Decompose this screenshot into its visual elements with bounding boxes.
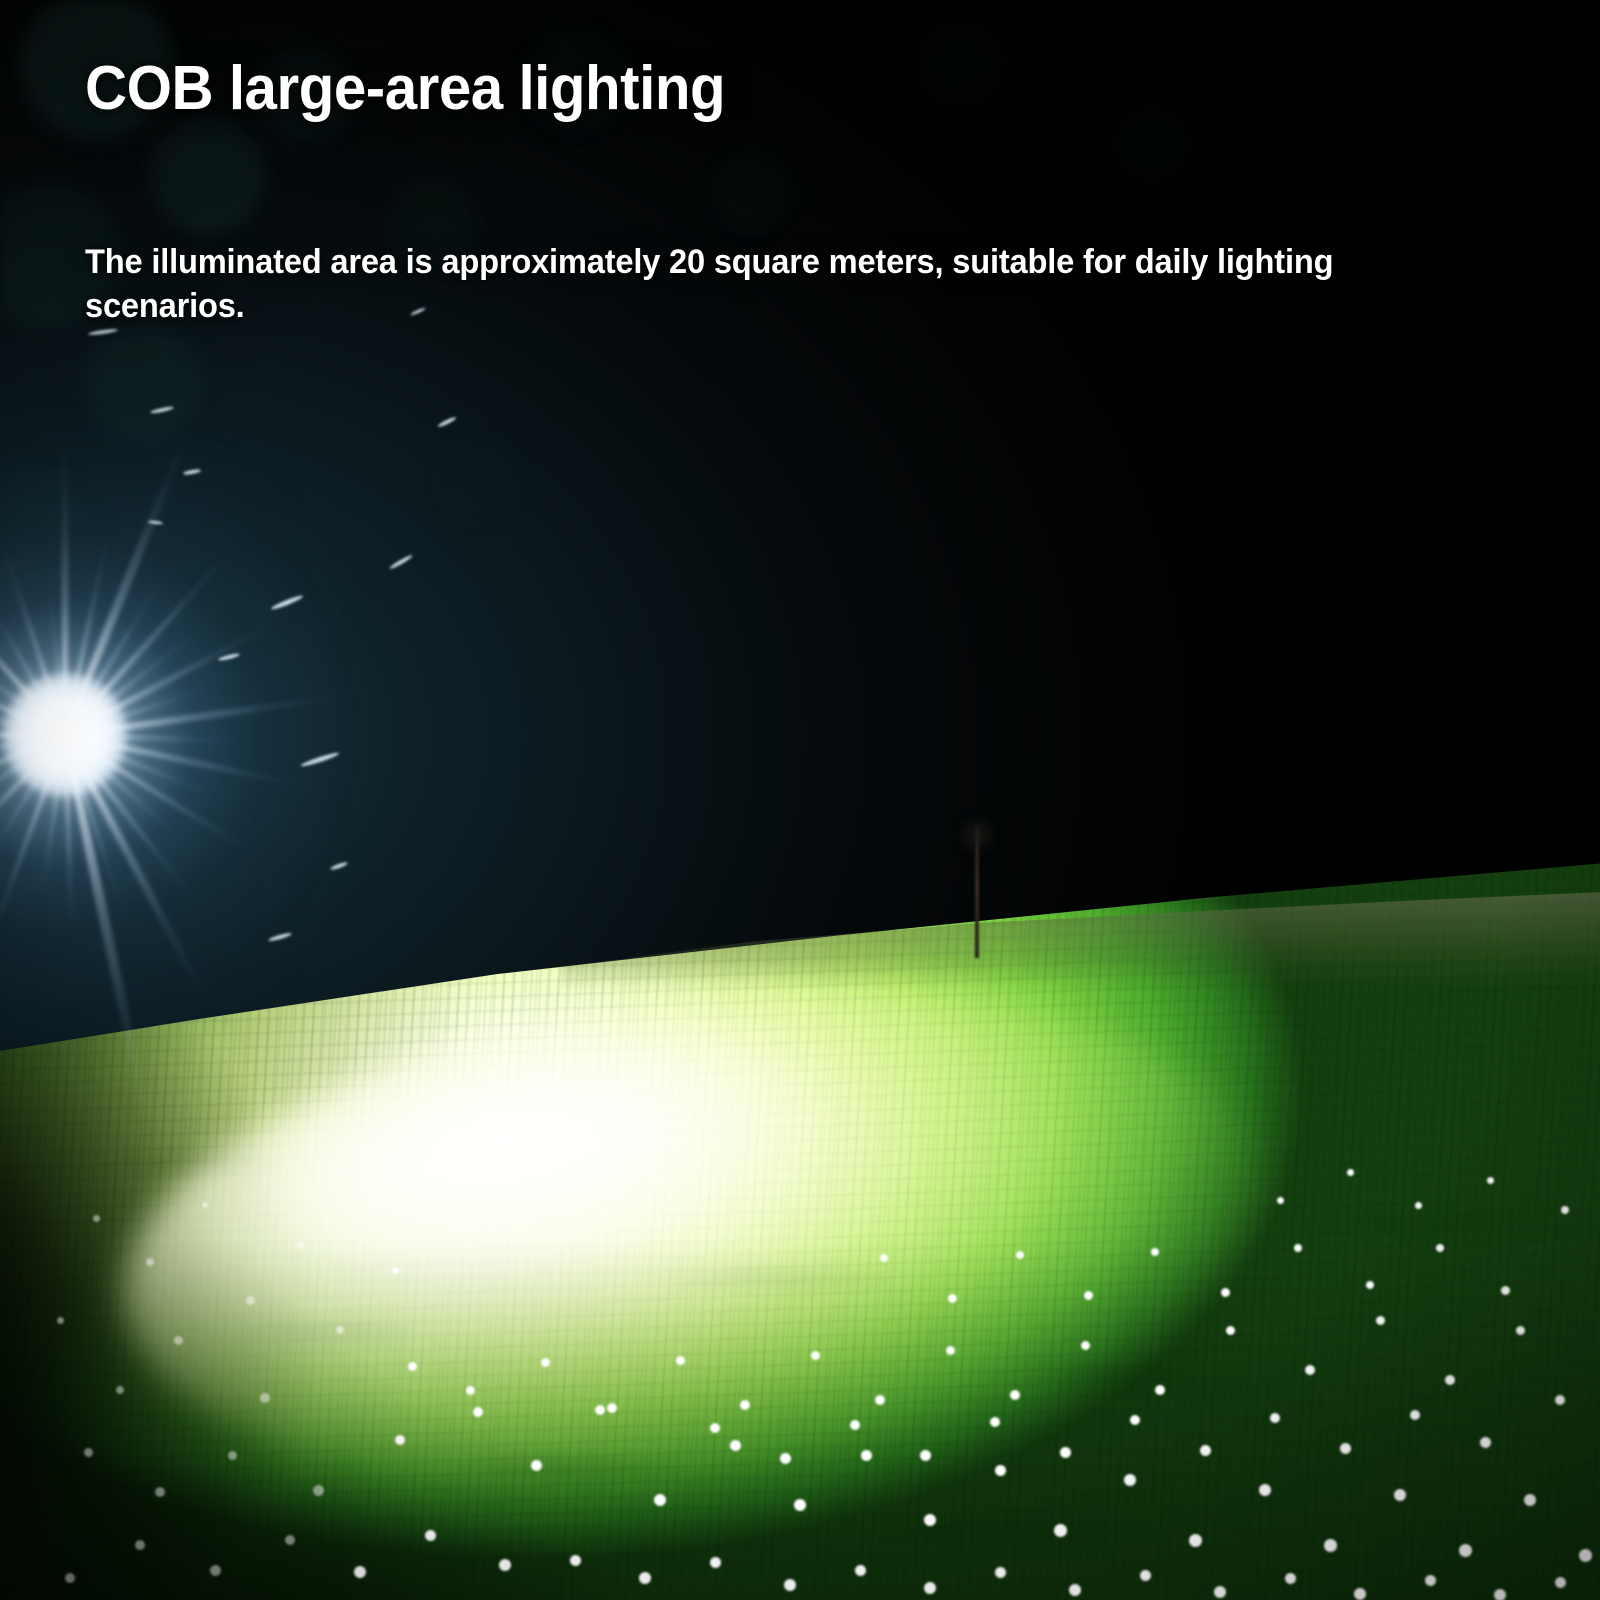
page-subtitle: The illuminated area is approximately 20… — [85, 240, 1362, 328]
light-streak-0 — [270, 594, 303, 611]
light-streak-2 — [300, 751, 340, 768]
light-streak-1 — [218, 652, 240, 661]
light-streak-4 — [183, 468, 201, 475]
text-overlay: COB large-area lighting The illuminated … — [85, 56, 1485, 328]
light-streak-9 — [268, 932, 292, 942]
page-title: COB large-area lighting — [85, 56, 1401, 122]
light-streak-3 — [389, 554, 414, 570]
product-photo-canvas: COB large-area lighting The illuminated … — [0, 0, 1600, 1600]
light-streak-8 — [330, 861, 348, 871]
light-streak-7 — [150, 406, 174, 415]
light-streak-10 — [88, 328, 118, 336]
light-streak-6 — [437, 416, 457, 428]
light-streak-5 — [148, 520, 163, 525]
